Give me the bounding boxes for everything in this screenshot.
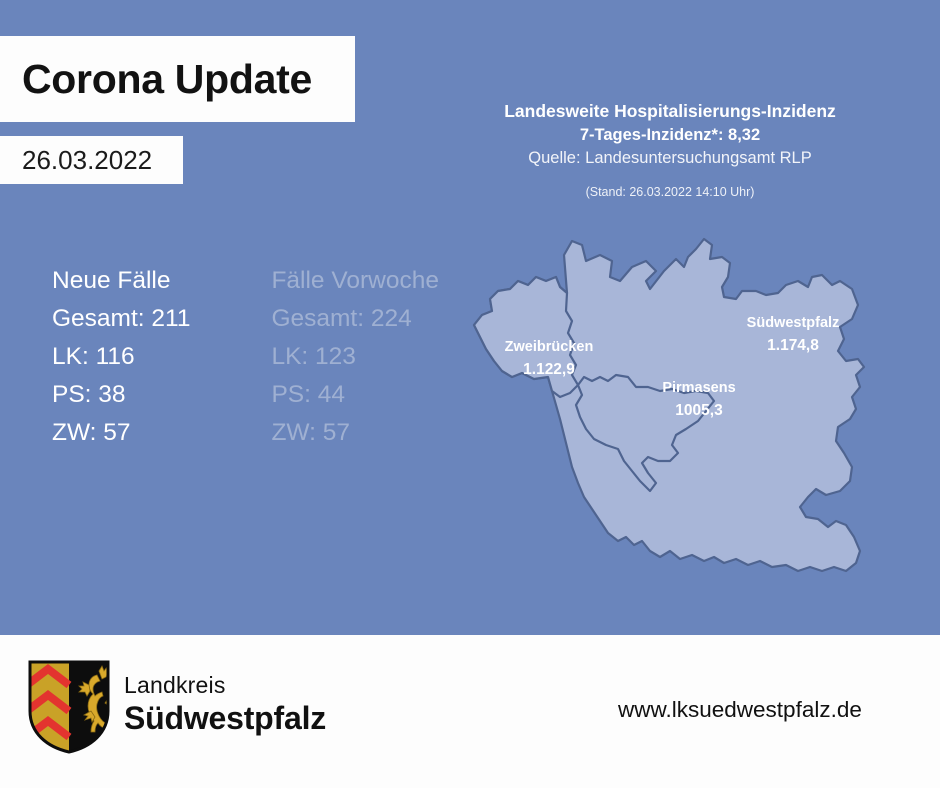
date-banner: 26.03.2022 — [0, 136, 183, 184]
region-zweibruecken-shape — [474, 277, 578, 397]
brand-line-landkreis: Landkreis — [124, 672, 326, 699]
stats-previous-lk: LK: 123 — [271, 338, 439, 376]
page-title: Corona Update — [0, 59, 312, 100]
stats-previous-ps: PS: 44 — [271, 376, 439, 414]
stats-previous-zw: ZW: 57 — [271, 414, 439, 452]
corona-update-poster: Corona Update 26.03.2022 Landesweite Hos… — [0, 0, 940, 788]
stats-current-total: Gesamt: 211 — [52, 300, 190, 338]
hospitalization-header: Landesweite Hospitalisierungs-Inzidenz 7… — [400, 100, 940, 199]
data-timestamp: (Stand: 26.03.2022 14:10 Uhr) — [400, 185, 940, 199]
hospitalization-title: Landesweite Hospitalisierungs-Inzidenz — [400, 100, 940, 124]
stats-current-zw: ZW: 57 — [52, 414, 190, 452]
crest-svg — [27, 659, 111, 755]
title-banner: Corona Update — [0, 36, 355, 122]
brand-line-suedwestpfalz: Südwestpfalz — [124, 699, 326, 737]
stats-previous-heading: Fälle Vorwoche — [271, 262, 439, 300]
coat-of-arms-icon — [27, 659, 111, 760]
stats-previous-total: Gesamt: 224 — [271, 300, 439, 338]
map-svg — [460, 215, 910, 625]
stats-current-heading: Neue Fälle — [52, 262, 190, 300]
data-source: Quelle: Landesuntersuchungsamt RLP — [400, 147, 940, 171]
stats-current-lk: LK: 116 — [52, 338, 190, 376]
report-date: 26.03.2022 — [0, 147, 152, 173]
stats-column-current: Neue Fälle Gesamt: 211 LK: 116 PS: 38 ZW… — [52, 262, 190, 452]
case-statistics: Neue Fälle Gesamt: 211 LK: 116 PS: 38 ZW… — [52, 262, 439, 452]
seven-day-incidence: 7-Tages-Inzidenz*: 8,32 — [400, 124, 940, 147]
stats-column-previous: Fälle Vorwoche Gesamt: 224 LK: 123 PS: 4… — [271, 262, 439, 452]
stats-current-ps: PS: 38 — [52, 376, 190, 414]
brand-lockup: Landkreis Südwestpfalz — [124, 672, 326, 737]
district-map: Zweibrücken 1.122,9 Pirmasens 1005,3 Süd… — [460, 215, 910, 625]
website-url: www.lksuedwestpfalz.de — [618, 697, 862, 723]
